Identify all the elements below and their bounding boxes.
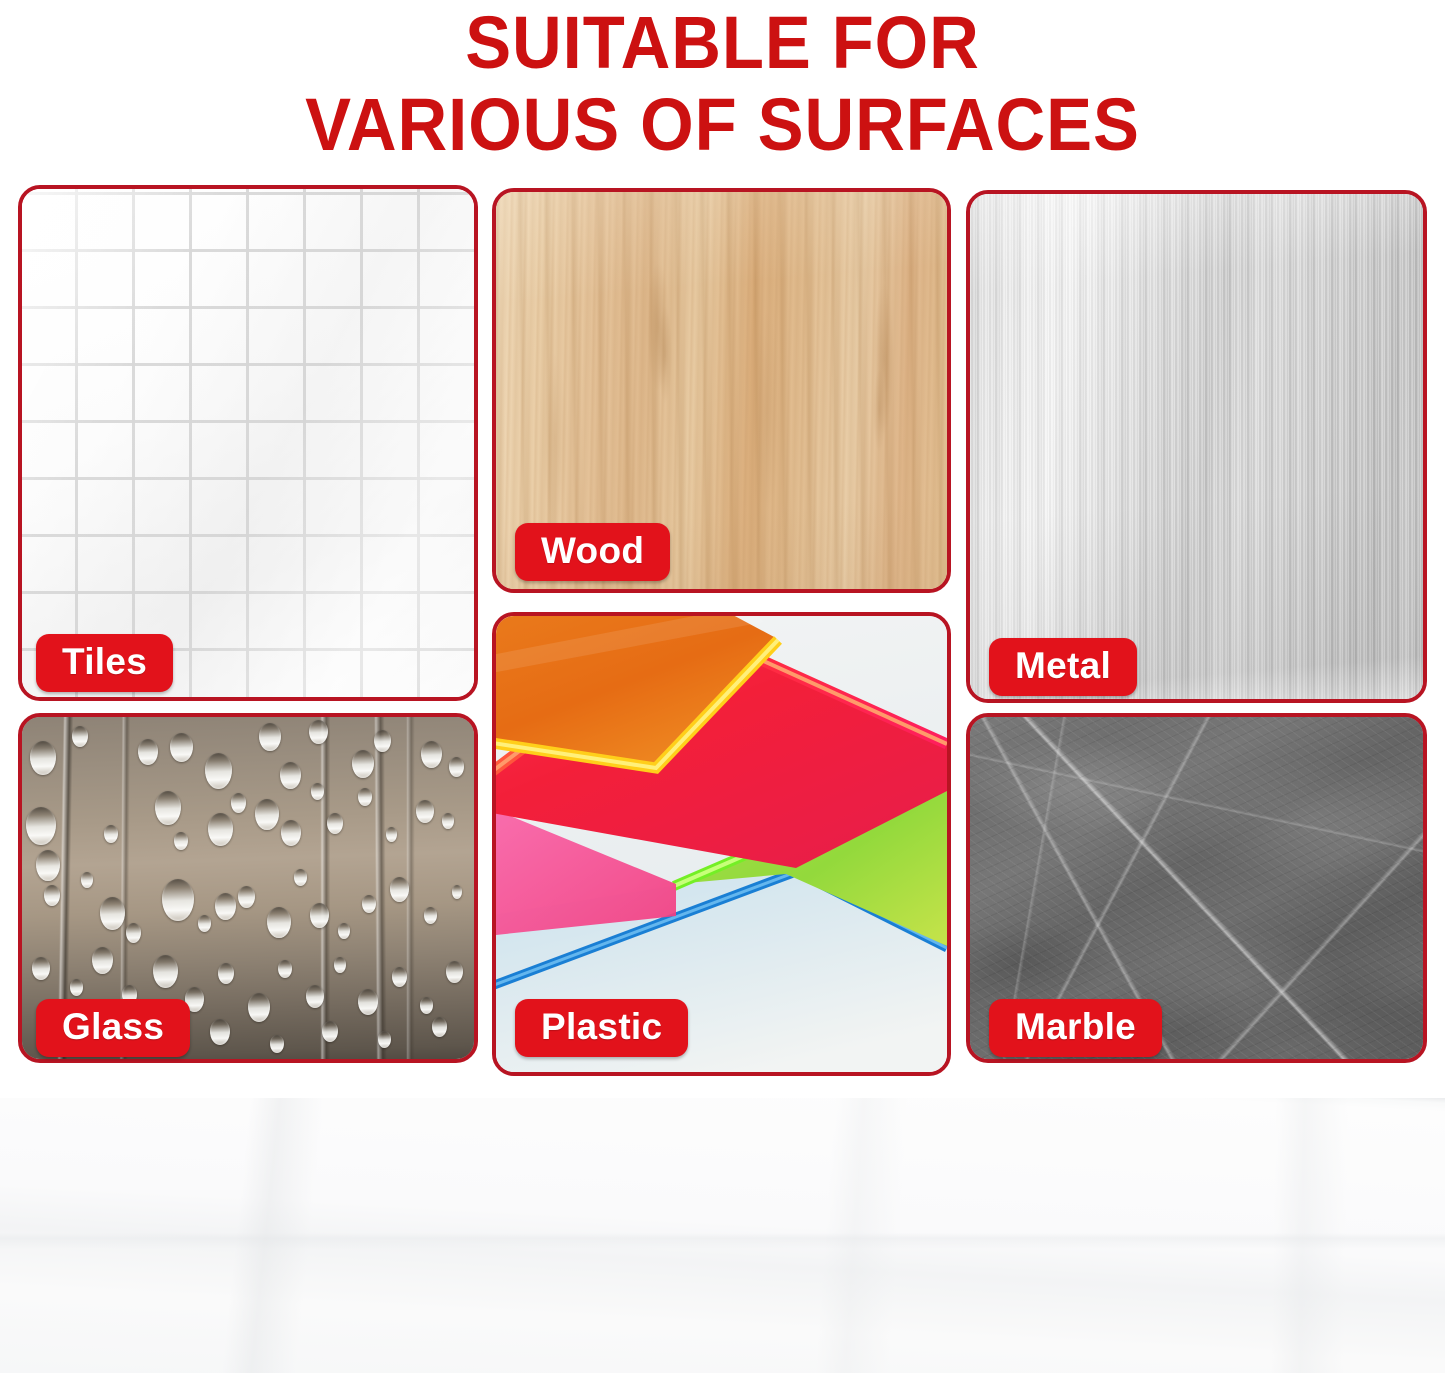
water-droplet (231, 793, 246, 813)
water-droplet (362, 895, 376, 913)
water-droplet (170, 733, 193, 762)
tiles-texture (22, 189, 474, 697)
water-droplet (280, 762, 301, 789)
water-droplet (153, 955, 178, 988)
water-droplet (208, 813, 233, 846)
water-droplet (32, 957, 50, 980)
water-droplet (162, 879, 194, 921)
tiles-sheen-overlay (22, 189, 474, 697)
water-droplet (215, 893, 236, 920)
surface-label-tiles: Tiles (36, 634, 173, 692)
water-droplet (446, 961, 463, 983)
water-droplet (449, 757, 464, 777)
surface-label-wood: Wood (515, 523, 670, 581)
surface-label-plastic: Plastic (515, 999, 688, 1057)
water-droplet (306, 985, 324, 1008)
water-droplet (259, 723, 281, 751)
water-droplet (278, 960, 292, 978)
water-droplet (452, 885, 462, 899)
water-droplet (424, 907, 437, 924)
water-droplet (294, 869, 307, 886)
water-droplet (155, 791, 181, 825)
water-droplet (281, 820, 301, 846)
water-droplet (92, 947, 113, 974)
surface-label-glass: Glass (36, 999, 190, 1057)
water-droplet (36, 850, 60, 881)
water-droplet (327, 813, 343, 834)
water-droplet (334, 957, 346, 973)
water-droplet (416, 800, 434, 823)
water-droplet (70, 979, 83, 996)
water-droplet (44, 885, 60, 906)
water-droplet (442, 813, 454, 829)
water-droplet (174, 832, 188, 850)
water-droplet (267, 907, 291, 938)
water-droplet (322, 1021, 338, 1042)
product-bottom-strip (0, 1098, 1445, 1373)
water-droplet (126, 923, 141, 943)
water-droplet (30, 741, 56, 775)
page-title-line-1: SUITABLE FOR (51, 2, 1395, 84)
water-droplet (352, 750, 374, 778)
water-droplet (138, 739, 158, 765)
water-droplet (255, 799, 279, 830)
water-droplet (378, 1031, 391, 1048)
metal-texture (970, 194, 1423, 699)
water-droplet (311, 783, 324, 800)
water-droplet (338, 923, 350, 939)
water-droplet (390, 877, 409, 902)
product-strip-shading (0, 1098, 1445, 1373)
water-droplet (432, 1017, 447, 1037)
water-droplet (374, 730, 391, 752)
water-droplet (386, 827, 397, 842)
water-droplet (210, 1019, 230, 1045)
page-title: SUITABLE FOR VARIOUS OF SURFACES (51, 2, 1395, 166)
water-droplet (420, 997, 433, 1014)
water-droplet (238, 886, 255, 908)
water-droplet (270, 1035, 284, 1053)
surface-card-metal (966, 190, 1427, 703)
water-droplet (218, 963, 234, 984)
water-droplet (72, 726, 88, 747)
surface-label-marble: Marble (989, 999, 1162, 1057)
water-droplet (309, 720, 328, 744)
water-droplet (421, 741, 442, 768)
water-droplet (248, 993, 270, 1022)
page-title-line-2: VARIOUS OF SURFACES (51, 84, 1395, 166)
water-droplet (100, 897, 125, 930)
water-droplet (104, 825, 118, 843)
water-droplet (358, 989, 378, 1015)
water-droplet (358, 788, 372, 806)
water-droplet (205, 753, 232, 789)
surface-label-metal: Metal (989, 638, 1137, 696)
water-droplet (392, 967, 407, 987)
metal-sheen-overlay (970, 194, 1423, 699)
water-droplet (198, 915, 211, 932)
water-droplet (310, 903, 329, 928)
surface-card-tiles (18, 185, 478, 701)
water-droplet (26, 807, 56, 845)
water-droplet (81, 872, 93, 888)
